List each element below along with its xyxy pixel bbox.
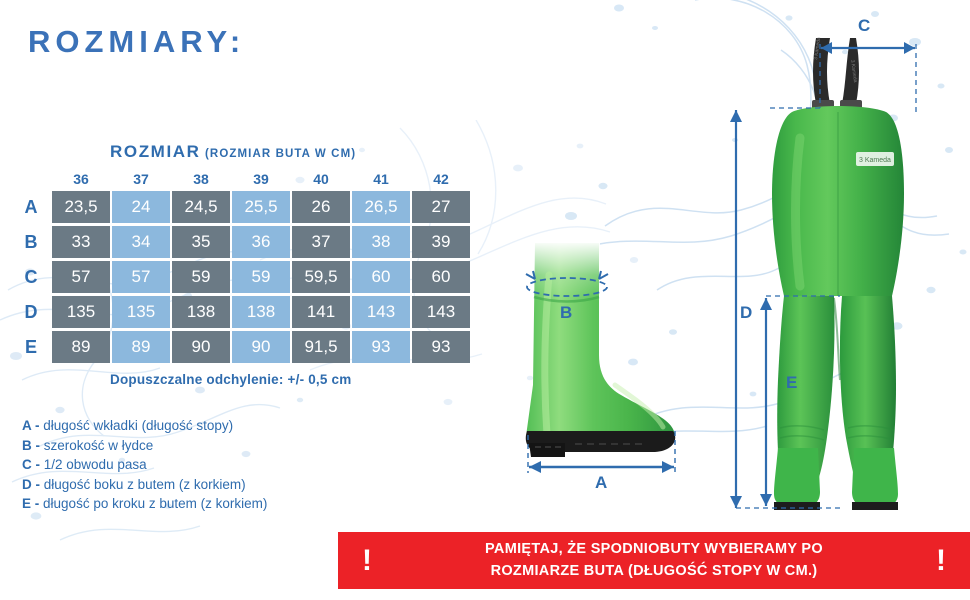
cell-d-40: 141 — [292, 296, 350, 328]
cell-c-39: 59 — [232, 261, 290, 293]
size-header-row: 36 37 38 39 40 41 42 — [18, 171, 488, 191]
legend-text-a: długość wkładki (długość stopy) — [43, 418, 233, 433]
legend-key-c: C - — [22, 457, 40, 472]
cell-b-40: 37 — [292, 226, 350, 258]
table-row: D 135 135 138 138 141 143 143 — [18, 296, 488, 328]
size-header-38: 38 — [172, 171, 230, 187]
warning-line-1: PAMIĘTAJ, ŻE SPODNIOBUTY WYBIERAMY PO — [396, 539, 912, 560]
cell-c-37: 57 — [112, 261, 170, 293]
legend-text-b: szerokość w łydce — [44, 438, 154, 453]
cell-b-42: 39 — [412, 226, 470, 258]
tolerance-note: Dopuszczalne odchylenie: +/- 0,5 cm — [110, 372, 488, 387]
row-label-a: A — [18, 191, 44, 223]
legend-item-c: C - 1/2 obwodu pasa — [22, 457, 422, 472]
page-title: ROZMIARY: — [28, 24, 245, 60]
size-header-39: 39 — [232, 171, 290, 187]
wader-figure: 3 Kameda 3 Kameda 3 Kameda — [720, 8, 970, 520]
cell-a-41: 26,5 — [352, 191, 410, 223]
legend-text-c: 1/2 obwodu pasa — [44, 457, 147, 472]
wader-dim-arrow-c — [821, 42, 915, 54]
length-arrow-a — [529, 461, 674, 473]
table-row: E 89 89 90 90 91,5 93 93 — [18, 331, 488, 363]
table-row: C 57 57 59 59 59,5 60 60 — [18, 261, 488, 293]
wader-dim-label-e: E — [786, 373, 797, 393]
legend-item-e: E - długość po kroku z butem (z korkiem) — [22, 496, 422, 511]
size-header-41: 41 — [352, 171, 410, 187]
legend-key-b: B - — [22, 438, 40, 453]
legend: A - długość wkładki (długość stopy) B - … — [22, 418, 422, 516]
cell-b-37: 34 — [112, 226, 170, 258]
cell-a-39: 25,5 — [232, 191, 290, 223]
boot-shaft-fade — [534, 243, 600, 301]
row-label-e: E — [18, 331, 44, 363]
cell-c-40: 59,5 — [292, 261, 350, 293]
table-caption-sub: (ROZMIAR BUTA W CM) — [205, 148, 356, 160]
wader-highlight — [796, 138, 801, 286]
cell-a-36: 23,5 — [52, 191, 110, 223]
boot-dim-label-b: B — [560, 303, 572, 323]
cell-a-40: 26 — [292, 191, 350, 223]
wader-dim-label-d: D — [740, 303, 752, 323]
cell-d-36: 135 — [52, 296, 110, 328]
table-caption: ROZMIAR (ROZMIAR BUTA W CM) — [110, 142, 488, 162]
cell-b-41: 38 — [352, 226, 410, 258]
cell-d-42: 143 — [412, 296, 470, 328]
table-row: B 33 34 35 36 37 38 39 — [18, 226, 488, 258]
size-header-37: 37 — [112, 171, 170, 187]
table-row: A 23,5 24 24,5 25,5 26 26,5 27 — [18, 191, 488, 223]
size-header-40: 40 — [292, 171, 350, 187]
size-header-42: 42 — [412, 171, 470, 187]
row-label-d: D — [18, 296, 44, 328]
table-caption-main: ROZMIAR — [110, 142, 201, 161]
cell-c-38: 59 — [172, 261, 230, 293]
cell-e-41: 93 — [352, 331, 410, 363]
wader-dim-arrow-e — [760, 298, 772, 506]
size-chart-page: ROZMIARY: ROZMIAR (ROZMIAR BUTA W CM) 36… — [0, 0, 970, 600]
boot-heel — [529, 443, 565, 457]
calf-arrow-left — [526, 271, 535, 279]
cell-c-36: 57 — [52, 261, 110, 293]
warning-banner: ! PAMIĘTAJ, ŻE SPODNIOBUTY WYBIERAMY PO … — [338, 532, 970, 589]
cell-e-36: 89 — [52, 331, 110, 363]
exclamation-icon-left: ! — [338, 546, 396, 576]
cell-e-38: 90 — [172, 331, 230, 363]
wader-brand-patch: 3 Kameda — [856, 152, 894, 166]
row-label-b: B — [18, 226, 44, 258]
cell-a-37: 24 — [112, 191, 170, 223]
boot-dim-label-a: A — [595, 473, 607, 493]
cell-b-36: 33 — [52, 226, 110, 258]
warning-banner-text: PAMIĘTAJ, ŻE SPODNIOBUTY WYBIERAMY PO RO… — [396, 539, 912, 581]
cell-e-40: 91,5 — [292, 331, 350, 363]
size-header-36: 36 — [52, 171, 110, 187]
legend-item-b: B - szerokość w łydce — [22, 438, 422, 453]
cell-c-42: 60 — [412, 261, 470, 293]
size-table: ROZMIAR (ROZMIAR BUTA W CM) 36 37 38 39 … — [18, 142, 488, 387]
legend-key-d: D - — [22, 477, 40, 492]
cell-c-41: 60 — [352, 261, 410, 293]
wader-boot-left — [774, 448, 820, 508]
cell-e-39: 90 — [232, 331, 290, 363]
legend-item-d: D - długość boku z butem (z korkiem) — [22, 477, 422, 492]
legend-text-e: długość po kroku z butem (z korkiem) — [43, 496, 267, 511]
cell-e-42: 93 — [412, 331, 470, 363]
cell-d-39: 138 — [232, 296, 290, 328]
cell-b-38: 35 — [172, 226, 230, 258]
legend-key-e: E - — [22, 496, 39, 511]
legend-item-a: A - długość wkładki (długość stopy) — [22, 418, 422, 433]
wader-sole-right — [852, 502, 898, 510]
cell-e-37: 89 — [112, 331, 170, 363]
cell-d-41: 143 — [352, 296, 410, 328]
exclamation-icon-right: ! — [912, 546, 970, 576]
row-label-c: C — [18, 261, 44, 293]
calf-arrow-right — [599, 271, 608, 279]
cell-b-39: 36 — [232, 226, 290, 258]
cell-a-42: 27 — [412, 191, 470, 223]
legend-text-d: długość boku z butem (z korkiem) — [44, 477, 246, 492]
cell-a-38: 24,5 — [172, 191, 230, 223]
wader-sole-left — [774, 502, 820, 510]
boot-figure: B A — [495, 235, 710, 500]
cell-d-38: 138 — [172, 296, 230, 328]
warning-line-2: ROZMIARZE BUTA (DŁUGOŚĆ STOPY W CM.) — [396, 561, 912, 582]
wader-boot-right — [852, 448, 898, 508]
svg-text:3 Kameda: 3 Kameda — [859, 157, 891, 164]
cell-d-37: 135 — [112, 296, 170, 328]
legend-key-a: A - — [22, 418, 40, 433]
wader-dim-label-c: C — [858, 16, 870, 36]
wader-crotch-seam — [834, 298, 840, 380]
